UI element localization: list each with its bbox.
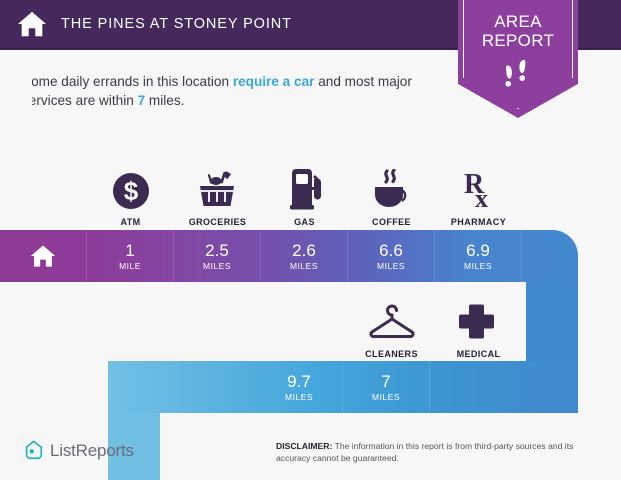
gas-pump-icon (261, 163, 348, 211)
service-icon-row-secondary: CLEANERS MEDICAL (348, 295, 522, 359)
distance-cell-groceries: 2.5 MILES (174, 230, 261, 282)
service-icon-pharmacy: R x PHARMACY (435, 163, 522, 227)
service-label: MEDICAL (435, 349, 522, 359)
disclaimer: DISCLAIMER: The information in this repo… (276, 440, 606, 464)
service-label: PHARMACY (435, 217, 522, 227)
clothes-hanger-icon (348, 295, 435, 343)
area-report-badge: AREA REPORT (458, 0, 578, 118)
badge-line-1: AREA (494, 12, 542, 31)
distance-unit: MILES (377, 261, 405, 271)
bar-lead-row-2 (108, 361, 256, 413)
distance-value: 6.6 (379, 242, 403, 260)
distance-value: 1 (125, 242, 134, 260)
distance-unit: MILES (464, 261, 492, 271)
distance-bar-row-2: 9.7 MILES 7 MILES (108, 361, 578, 413)
intro-highlight-car: require a car (233, 74, 315, 89)
distance-cell-medical: 7 MILES (343, 361, 430, 413)
listreports-logo: ListReports (24, 440, 134, 461)
service-icon-groceries: GROCERIES (174, 163, 261, 227)
distance-unit: MILE (119, 261, 141, 271)
distance-cell-gas: 2.6 MILES (261, 230, 348, 282)
grocery-basket-icon (174, 163, 261, 211)
bar-tail-row-2 (430, 361, 578, 413)
intro-part-1: Some daily errands in this location (22, 74, 233, 89)
service-icon-cleaners: CLEANERS (348, 295, 435, 359)
intro-part-3: miles. (145, 93, 184, 108)
home-icon (30, 243, 56, 269)
service-icon-coffee: COFFEE (348, 163, 435, 227)
pharmacy-rx-icon: R x (435, 163, 522, 211)
area-report-infographic: THE PINES AT STONEY POINT AREA REPORT So… (0, 0, 621, 480)
medical-cross-icon (435, 295, 522, 343)
service-label: GAS (261, 217, 348, 227)
distance-cell-cleaners: 9.7 MILES (256, 361, 343, 413)
distance-cell-pharmacy: 6.9 MILES (435, 230, 522, 282)
distance-unit: MILES (290, 261, 318, 271)
bar-tail-row-1 (522, 230, 578, 282)
service-icon-gas: GAS (261, 163, 348, 227)
distance-bar-row-1: 1 MILE 2.5 MILES 2.6 MILES 6.6 MILES 6.9… (0, 230, 578, 282)
disclaimer-label: DISCLAIMER: (276, 441, 332, 451)
distance-value: 7 (381, 373, 390, 391)
service-icon-atm: $ ATM (87, 163, 174, 227)
distance-cell-atm: 1 MILE (87, 230, 174, 282)
listreports-house-icon (24, 440, 43, 461)
home-icon (17, 9, 47, 39)
distance-value: 9.7 (287, 373, 311, 391)
distance-unit: MILES (285, 392, 313, 402)
service-label: GROCERIES (174, 217, 261, 227)
coffee-cup-icon (348, 163, 435, 211)
service-icon-medical: MEDICAL (435, 295, 522, 359)
distance-value: 6.9 (466, 242, 490, 260)
page-title: THE PINES AT STONEY POINT (61, 16, 292, 32)
distance-cell-coffee: 6.6 MILES (348, 230, 435, 282)
service-icon-row-primary: $ ATM (87, 163, 522, 227)
badge-line-2: REPORT (482, 31, 554, 50)
service-label: CLEANERS (348, 349, 435, 359)
distance-value: 2.6 (292, 242, 316, 260)
distance-unit: MILES (372, 392, 400, 402)
listreports-wordmark: ListReports (50, 441, 134, 461)
bar-home-marker (0, 230, 87, 282)
intro-text: Some daily errands in this location requ… (22, 72, 432, 110)
svg-text:$: $ (123, 176, 138, 206)
distance-value: 2.5 (205, 242, 229, 260)
service-label: ATM (87, 217, 174, 227)
bar-connector-notch (0, 52, 32, 131)
footprints-icon (502, 58, 535, 88)
atm-dollar-icon: $ (87, 163, 174, 211)
svg-text:x: x (475, 184, 488, 211)
service-label: COFFEE (348, 217, 435, 227)
distance-unit: MILES (203, 261, 231, 271)
badge-label: AREA REPORT (458, 12, 578, 50)
